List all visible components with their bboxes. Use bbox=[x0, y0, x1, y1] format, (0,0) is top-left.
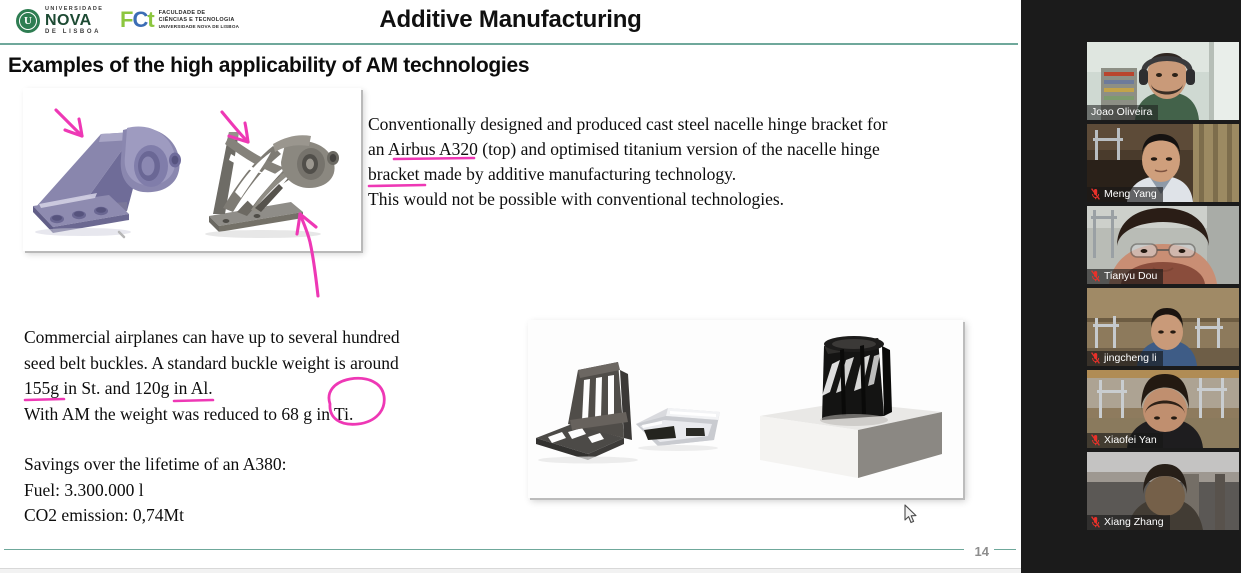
participant-label-xiang-zhang: Xiang Zhang bbox=[1087, 515, 1170, 530]
paragraph-buckles-line-3: 155g in St. and 120g in Al. bbox=[24, 376, 494, 402]
nova-logo: U UNIVERSIDADE NOVA DE LISBOA bbox=[16, 7, 103, 35]
fct-logo-wordmark: FACULDADE DE CIÊNCIAS E TECNOLOGIA UNIVE… bbox=[159, 10, 239, 29]
buckles-photo bbox=[528, 320, 963, 498]
paragraph-buckles: Commercial airplanes can have up to seve… bbox=[24, 325, 494, 427]
fct-logo: FCt FACULDADE DE CIÊNCIAS E TECNOLOGIA U… bbox=[120, 9, 239, 31]
fct-logo-mark: FCt bbox=[120, 9, 154, 31]
participant-name: Xiang Zhang bbox=[1104, 516, 1164, 528]
footer-divider-right bbox=[994, 549, 1016, 551]
paragraph-buckles-line-1: Commercial airplanes can have up to seve… bbox=[24, 325, 494, 351]
shared-slide[interactable]: Additive Manufacturing U UNIVERSIDADE NO… bbox=[0, 0, 1021, 573]
participants-filmstrip[interactable]: Joao Oliveira bbox=[1021, 0, 1241, 573]
screen-share-window: Additive Manufacturing U UNIVERSIDADE NO… bbox=[0, 0, 1241, 573]
participant-name: Meng Yang bbox=[1104, 188, 1157, 200]
footer-divider-left bbox=[4, 549, 964, 551]
fct-logo-line3: UNIVERSIDADE NOVA DE LISBOA bbox=[159, 24, 239, 30]
paragraph-nacelle-line-3: bracket made by additive manufacturing t… bbox=[368, 162, 1008, 187]
nova-logo-wordmark: UNIVERSIDADE NOVA DE LISBOA bbox=[45, 7, 103, 35]
participant-label-jingcheng-li: jingcheng li bbox=[1087, 351, 1163, 366]
nova-seal-icon: U bbox=[16, 9, 40, 33]
participant-tile-tianyu-dou[interactable]: Tianyu Dou bbox=[1087, 206, 1239, 284]
participant-label-xiaofei-yan: Xiaofei Yan bbox=[1087, 433, 1163, 448]
paragraph-buckles-line-2: seed belt buckles. A standard buckle wei… bbox=[24, 351, 494, 377]
participant-name: Tianyu Dou bbox=[1104, 270, 1157, 282]
paragraph-savings: Savings over the lifetime of an A380: Fu… bbox=[24, 452, 424, 529]
figure-nacelle-brackets bbox=[23, 88, 361, 251]
fct-logo-letter-t: t bbox=[147, 7, 153, 32]
nova-logo-line2: NOVA bbox=[45, 13, 103, 29]
participant-tile-xiang-zhang[interactable]: Xiang Zhang bbox=[1087, 452, 1239, 530]
header-divider bbox=[0, 43, 1018, 45]
nova-seal-glyph: U bbox=[16, 9, 40, 33]
brackets-illustration bbox=[23, 88, 361, 251]
mic-muted-icon bbox=[1091, 270, 1100, 282]
mic-muted-icon bbox=[1091, 352, 1100, 364]
paragraph-savings-line-2: Fuel: 3.300.000 l bbox=[24, 478, 424, 504]
slide-heading: Examples of the high applicability of AM… bbox=[8, 54, 529, 78]
participant-label-tianyu-dou: Tianyu Dou bbox=[1087, 269, 1163, 284]
mic-muted-icon bbox=[1091, 188, 1100, 200]
participant-label-joao-oliveira: Joao Oliveira bbox=[1087, 105, 1158, 120]
slide-bottom-edge bbox=[0, 568, 1021, 573]
participant-tile-joao-oliveira[interactable]: Joao Oliveira bbox=[1087, 42, 1239, 120]
participant-name: Xiaofei Yan bbox=[1104, 434, 1157, 446]
participant-tile-xiaofei-yan[interactable]: Xiaofei Yan bbox=[1087, 370, 1239, 448]
slide-page-number: 14 bbox=[975, 544, 989, 559]
nova-logo-line3: DE LISBOA bbox=[45, 29, 103, 35]
mouse-cursor bbox=[904, 504, 918, 524]
participant-name: jingcheng li bbox=[1104, 352, 1157, 364]
paragraph-nacelle: Conventionally designed and produced cas… bbox=[368, 112, 1008, 212]
fct-logo-letter-f: F bbox=[120, 7, 132, 32]
paragraph-savings-line-1: Savings over the lifetime of an A380: bbox=[24, 452, 424, 478]
paragraph-nacelle-line-1: Conventionally designed and produced cas… bbox=[368, 112, 1008, 137]
figure-seatbelt-buckles bbox=[528, 320, 963, 498]
mic-muted-icon bbox=[1091, 434, 1100, 446]
participant-label-meng-yang: Meng Yang bbox=[1087, 187, 1163, 202]
mic-muted-icon bbox=[1091, 516, 1100, 528]
fct-logo-letter-c: C bbox=[132, 7, 147, 32]
paragraph-savings-line-3: CO2 emission: 0,74Mt bbox=[24, 503, 424, 529]
slide-header: Additive Manufacturing U UNIVERSIDADE NO… bbox=[0, 0, 1021, 44]
participant-tile-meng-yang[interactable]: Meng Yang bbox=[1087, 124, 1239, 202]
paragraph-buckles-line-4: With AM the weight was reduced to 68 g i… bbox=[24, 402, 494, 428]
participant-tile-jingcheng-li[interactable]: jingcheng li bbox=[1087, 288, 1239, 366]
paragraph-nacelle-line-4: This would not be possible with conventi… bbox=[368, 187, 1008, 212]
fct-logo-line2: CIÊNCIAS E TECNOLOGIA bbox=[159, 17, 239, 24]
participant-name: Joao Oliveira bbox=[1091, 106, 1152, 118]
paragraph-nacelle-line-2: an Airbus A320 (top) and optimised titan… bbox=[368, 137, 1008, 162]
